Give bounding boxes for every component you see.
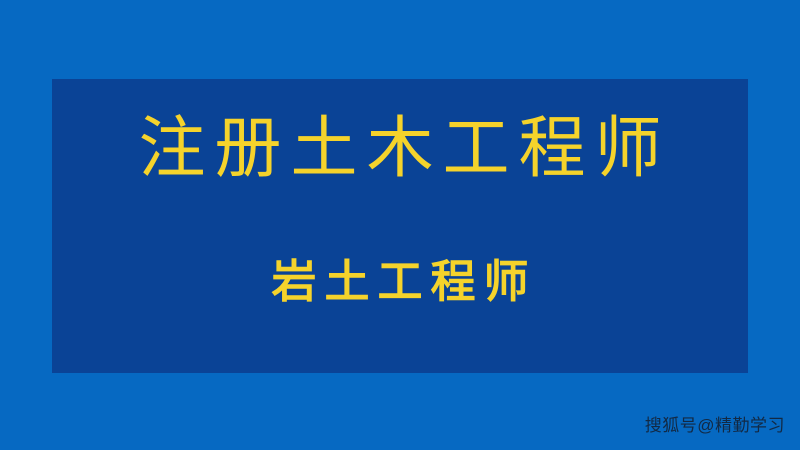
content-panel: 注册土木工程师 岩土工程师	[52, 79, 748, 373]
page-title: 注册土木工程师	[52, 115, 748, 182]
watermark-label: 搜狐号@精勤学习	[645, 417, 785, 434]
page-subtitle: 岩土工程师	[52, 259, 748, 304]
slide-canvas: 注册土木工程师 岩土工程师 搜狐号@精勤学习	[0, 0, 800, 450]
